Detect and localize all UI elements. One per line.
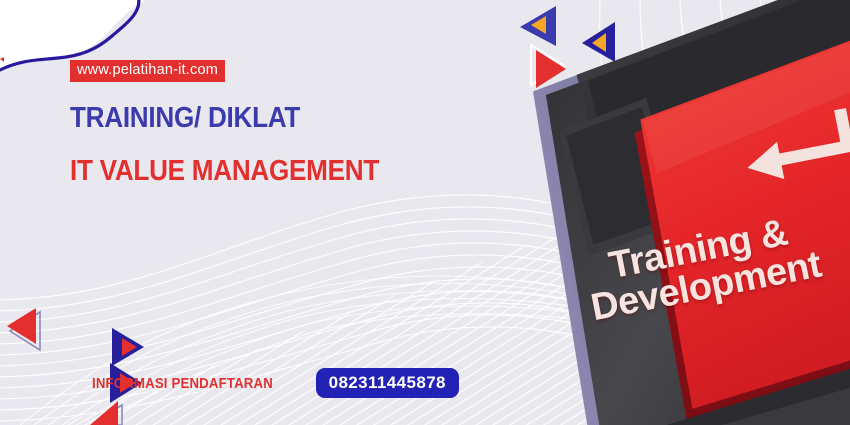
triangle-blue-red-b: [112, 328, 144, 366]
phone-number-badge[interactable]: 082311445878: [316, 368, 459, 398]
website-url-banner[interactable]: www.pelatihan-it.com: [70, 60, 225, 82]
registration-label: INFORMASI PENDAFTARAN: [92, 375, 273, 392]
page-title-line1: TRAINING/ DIKLAT: [70, 104, 457, 133]
triangle-red-outline-left: [7, 308, 40, 350]
triangle-red-outline-bottom: [90, 401, 122, 425]
registration-row: INFORMASI PENDAFTARAN 082311445878: [92, 368, 459, 398]
promo-banner: Training & Development www.pelatihan-it.…: [0, 0, 850, 425]
keyboard-enter-key-image: Training & Development: [520, 0, 850, 425]
headline-block: www.pelatihan-it.com TRAINING/ DIKLAT IT…: [70, 60, 500, 186]
page-title-line2: IT VALUE MANAGEMENT: [70, 157, 457, 186]
